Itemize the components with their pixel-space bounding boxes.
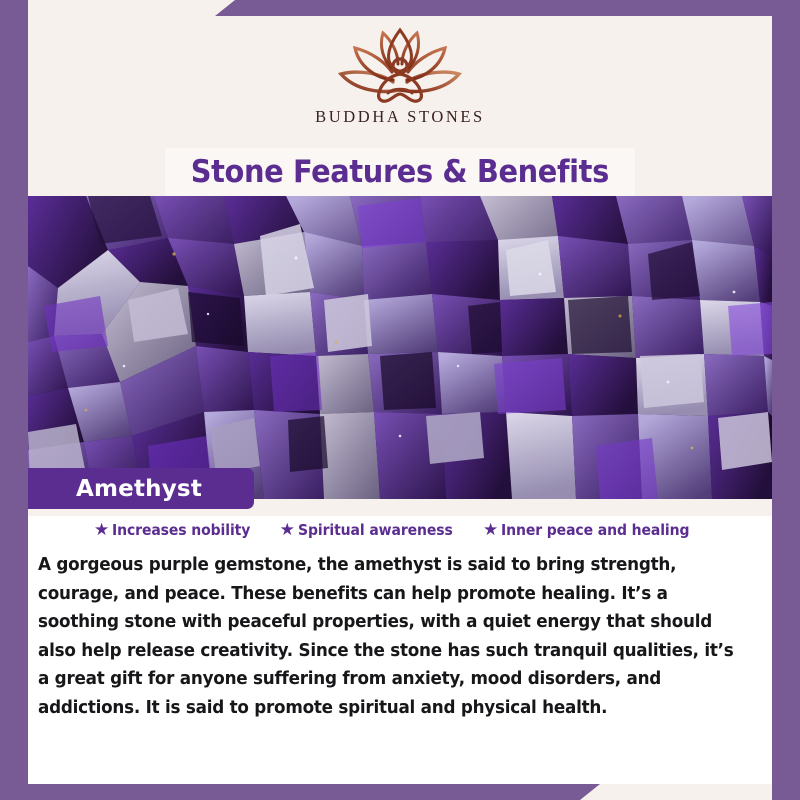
- stone-name-label: Amethyst: [76, 476, 202, 502]
- frame-band-right: [772, 0, 800, 800]
- stone-description: A gorgeous purple gemstone, the amethyst…: [38, 551, 739, 723]
- frame-band-top: [0, 0, 800, 16]
- hero-image: [28, 196, 772, 499]
- star-icon: ★: [483, 521, 498, 538]
- frame-band-bottom: [0, 784, 800, 800]
- benefit-item: ★ Increases nobility: [94, 521, 263, 539]
- brand-logo: BUDDHA STONES: [28, 16, 772, 142]
- page-title: Stone Features & Benefits: [191, 154, 609, 190]
- brand-wordmark: BUDDHA STONES: [315, 107, 485, 127]
- benefit-item: ★ Inner peace and healing: [483, 521, 706, 539]
- frame-band-left: [0, 0, 28, 800]
- lotus-meditation-icon: [325, 24, 475, 106]
- card-page: BUDDHA STONES Stone Features & Benefits: [28, 16, 772, 784]
- stone-name-banner: Amethyst: [28, 468, 254, 509]
- benefit-label: Spiritual awareness: [298, 521, 453, 539]
- benefits-list: ★ Increases nobility ★ Spiritual awarene…: [28, 521, 772, 539]
- amethyst-cluster-graphic: [28, 196, 772, 499]
- benefit-item: ★ Spiritual awareness: [280, 521, 466, 539]
- product-info-card: BUDDHA STONES Stone Features & Benefits: [0, 0, 800, 800]
- star-icon: ★: [94, 521, 109, 538]
- star-icon: ★: [280, 521, 295, 538]
- benefit-label: Inner peace and healing: [501, 521, 689, 539]
- title-plaque: Stone Features & Benefits: [165, 148, 635, 196]
- content-panel: ★ Increases nobility ★ Spiritual awarene…: [28, 499, 772, 784]
- benefit-label: Increases nobility: [112, 521, 250, 539]
